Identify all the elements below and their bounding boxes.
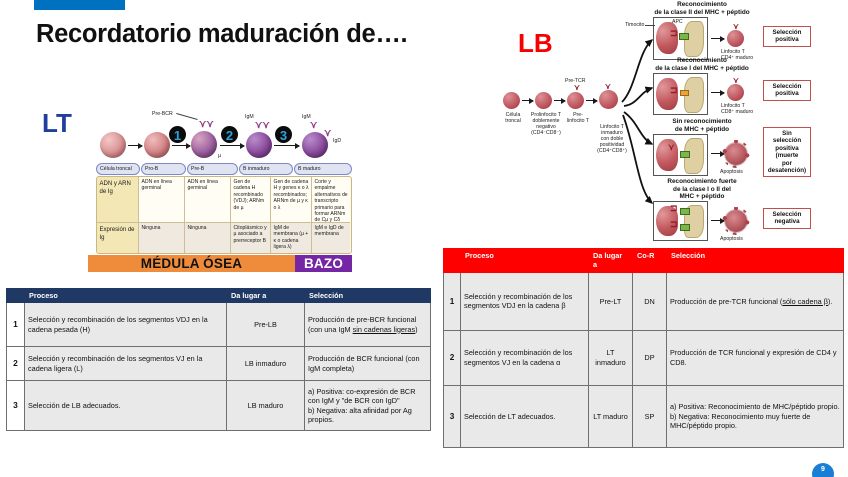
panel-2-outcome-arrow (711, 92, 724, 93)
grid-cell-r1c1: ADN en línea germinal (139, 177, 185, 223)
table-row: 2 Selección y recombinación de los segme… (7, 347, 431, 381)
t-cell-summary-table: Proceso Da lugar a Co-R Selección 1 Sele… (443, 248, 844, 448)
panel-title-class-ii: Reconocimiento de la clase II del MHC + … (617, 1, 787, 16)
cell-rt-num-2: 2 (444, 330, 461, 385)
cell-rt-num-1: 1 (444, 272, 461, 330)
cell-rt-dalugar-2: LT inmaduro (589, 330, 633, 385)
cell-lb-seleccion-2: Producción de BCR funcional (con IgM com… (305, 347, 431, 381)
cell-rt-proceso-2: Selección y recombinación de los segment… (461, 330, 589, 385)
t-cell-summary-table-wrapper: Proceso Da lugar a Co-R Selección 1 Sele… (443, 248, 843, 448)
tcr-arm-icon-4b: ⊐ (670, 221, 678, 228)
slide-canvas: Recordatorio maduración de…. LT LB 1 ⋎⋎ … (0, 0, 848, 477)
pre-b-cell-icon (191, 131, 217, 158)
organ-spleen-label: BAZO (295, 255, 352, 272)
accent-bar (34, 0, 125, 10)
thymocyte-label: Timocito (625, 22, 644, 28)
panel-title-no-recognition: Sin reconocimiento de MHC + péptido (617, 118, 787, 133)
th-rt-da-lugar-a: Da lugar a (589, 249, 633, 273)
pro-b-cell-icon (144, 132, 170, 158)
stage-pill-stem: Célula troncal (96, 163, 140, 175)
apoptotic-cell-icon-1 (725, 143, 747, 165)
th-lb-index (7, 289, 25, 303)
step-number-1: 1 (168, 125, 187, 144)
cell-rt-dalugar-3: LT maduro (589, 385, 633, 447)
panel-title-strong-recognition: Reconocimiento fuerte de la clase I o II… (617, 178, 787, 201)
cell-rt-cor-2: DP (633, 330, 667, 385)
page-title: Recordatorio maduración de…. (36, 20, 407, 49)
organ-location-bar: MÉDULA ÓSEA BAZO (88, 255, 352, 272)
b-cell-summary-table-wrapper: Proceso Da lugar a Selección 1 Selección… (6, 288, 430, 431)
table-row: 3 Selección de LT adecuados. LT maduro S… (444, 385, 844, 447)
cell-rt-dalugar-1: Pre-LT (589, 272, 633, 330)
cell-lb-seleccion-1: Producción de pre-BCR funcional (con una… (305, 303, 431, 347)
cell-lb-proceso-1: Selección y recombinación de los segment… (25, 303, 227, 347)
cell-rt-cor-3: SP (633, 385, 667, 447)
igm-receptor-icon-1: ⋎⋎ (255, 122, 270, 130)
tcr-receptor-icon: ⋎ (605, 83, 611, 91)
table-row: 1 Selección y recombinación de los segme… (444, 272, 844, 330)
cell-lb-dalugar-1: Pre-LB (227, 303, 305, 347)
section-label-lt: LT (42, 108, 72, 139)
mhc-molecule-4b (680, 224, 690, 231)
tcr-arm-icon-2: ⊐ (670, 87, 678, 94)
b-cell-stage-pills: Célula troncal Pro-B Pre-B B inmaduro B … (96, 163, 352, 175)
tcr-arm-icon-3: ⋎ (668, 144, 675, 151)
result-box-positive-1: Selección positiva (763, 26, 811, 47)
stage-pill-pre-b: Pre-B (187, 163, 238, 175)
b-cell-lineage-row: 1 ⋎⋎ Pre-BCR µ 2 ⋎⋎ IgM 3 ⋎ ⋎ IgM IgD (96, 108, 352, 164)
grid-cell-r2c3: Citoplásmico y µ asociado a prerreceptor… (231, 223, 271, 254)
apoptosis-label-2: Apoptosis (720, 236, 743, 242)
sel-text-post: ). (828, 297, 832, 306)
t-lineage-arrow-1 (522, 100, 533, 101)
pre-bcr-leader-line (176, 113, 197, 120)
stage-pill-mature: B maduro (294, 163, 352, 175)
table-row: 3 Selección de LB adecuados. LB maduro a… (7, 381, 431, 431)
cd8-tcr-icon: ⋎ (733, 77, 739, 85)
cell-lb-proceso-2: Selección y recombinación de los segment… (25, 347, 227, 381)
cell-lb-proceso-3: Selección de LB adecuados. (25, 381, 227, 431)
t-cell-selection-figure: ⋎ ⋎ Pre-TCR Célulatroncal Prolinfocito T… (505, 0, 848, 240)
cell-rt-seleccion-2: Producción de TCR funcional y expresión … (667, 330, 844, 385)
t-lineage-label-prolymphocyte: Prolinfocito Tdoblementenegativo(CD4⁻CD8… (525, 112, 567, 136)
cell-rt-num-3: 3 (444, 385, 461, 447)
tcr-arm-icon-4a: ⊐ (670, 205, 678, 212)
organ-bone-marrow-label: MÉDULA ÓSEA (88, 255, 295, 272)
page-number-badge: 9 (812, 463, 834, 477)
igd-receptor-icon: ⋎ (324, 130, 331, 138)
apoptotic-cell-icon-2 (725, 210, 747, 232)
stem-cell-icon (100, 132, 126, 158)
t-lineage-arrow-3 (586, 100, 597, 101)
igm-label-2: IgM (302, 114, 311, 120)
t-lineage-arrow-2 (554, 100, 565, 101)
result-box-positive-2: Selección positiva (763, 80, 811, 101)
pre-bcr-label: Pre-BCR (152, 111, 173, 117)
grid-cell-r2c2: Ninguna (185, 223, 231, 254)
thymocyte-cell-icon-1 (656, 22, 678, 54)
cell-rt-cor-1: DN (633, 272, 667, 330)
sel-text-post: ) (415, 325, 417, 334)
igd-label: IgD (333, 138, 341, 144)
pre-bcr-receptor-icon: ⋎⋎ (199, 121, 214, 129)
th-lb-seleccion: Selección (305, 289, 431, 303)
grid-row-label-ig-expression: Expresión de Ig (97, 223, 139, 254)
cell-lb-dalugar-3: LB maduro (227, 381, 305, 431)
mhc-molecule-3 (680, 151, 690, 158)
apoptosis-label-1: Apoptosis (720, 169, 743, 175)
step-number-2: 2 (220, 125, 239, 144)
mhc-class-ii-molecule-1 (679, 33, 689, 40)
cell-rt-seleccion-3: a) Positiva: Reconocimiento de MHC/pépti… (667, 385, 844, 447)
cell-lb-num-3: 3 (7, 381, 25, 431)
t-stem-cell-icon (503, 92, 520, 109)
lineage-arrow-2 (172, 145, 190, 146)
cd4-mature-cell-icon (727, 30, 744, 47)
th-lb-da-lugar-a: Da lugar a (227, 289, 305, 303)
th-lb-proceso: Proceso (25, 289, 227, 303)
tcr-arm-icon-1: ⊐ (670, 30, 678, 37)
grid-cell-r1c4: Gen de cadena H y genes κ o λ recombinad… (271, 177, 312, 223)
b-cell-property-grid: ADN y ARN de Ig ADN en línea germinal AD… (96, 176, 352, 254)
b-cell-summary-table: Proceso Da lugar a Selección 1 Selección… (6, 288, 431, 431)
igm-receptor-icon-2: ⋎ (310, 122, 317, 130)
grid-cell-r1c5: Corte y empalme alternativos de transcri… (312, 177, 350, 223)
sel-text-pre: Producción de pre-TCR funcional ( (670, 297, 782, 306)
cell-rt-proceso-3: Selección de LT adecuados. (461, 385, 589, 447)
cell-lb-dalugar-2: LB inmaduro (227, 347, 305, 381)
cd8-mature-cell-icon (727, 84, 744, 101)
igm-label-1: IgM (245, 114, 254, 120)
grid-cell-r2c5: IgM e IgD de membrana (312, 223, 350, 254)
grid-cell-r1c2: ADN en línea germinal (185, 177, 231, 223)
table-row: 1 Selección y recombinación de los segme… (7, 303, 431, 347)
lineage-arrow-1 (128, 145, 142, 146)
th-rt-seleccion: Selección (667, 249, 844, 273)
lineage-arrow-4 (274, 145, 299, 146)
b-cell-maturation-figure: 1 ⋎⋎ Pre-BCR µ 2 ⋎⋎ IgM 3 ⋎ ⋎ IgM IgD Cé… (96, 108, 352, 272)
t-prolymphocyte-icon (535, 92, 552, 109)
lineage-arrow-3 (220, 145, 244, 146)
immature-b-cell-icon (246, 132, 272, 158)
cell-rt-seleccion-1: Producción de pre-TCR funcional (sólo ca… (667, 272, 844, 330)
table-header-row: Proceso Da lugar a Selección (7, 289, 431, 303)
grid-cell-r1c3: Gen de cadena H recombinado (VDJ); ARNm … (231, 177, 271, 223)
step-number-3: 3 (274, 125, 293, 144)
panel-1-outcome-arrow (711, 38, 724, 39)
result-box-no-positive-selection: Sin selección positiva (muerte por desat… (763, 127, 811, 177)
cd8-mature-label: Linfocito TCD8⁺ maduro (721, 103, 761, 115)
panel-box-strong-recognition: ⊐ ⊐ (653, 201, 708, 241)
panel-box-no-recognition: ⋎ (653, 134, 708, 176)
th-rt-proceso: Proceso (461, 249, 589, 273)
mu-chain-label: µ (218, 153, 221, 159)
th-rt-index (444, 249, 461, 273)
pre-tcr-receptor-icon: ⋎ (574, 84, 580, 92)
cell-lb-num-2: 2 (7, 347, 25, 381)
mhc-molecule-4a (680, 208, 690, 215)
cd4-mature-label: Linfocito TCD4⁺ maduro (721, 49, 761, 61)
cell-lb-seleccion-3: a) Positiva: co-expresión de BCR con IgM… (305, 381, 431, 431)
t-lineage-label-immature: Linfocito Tinmadurocon doblepositividad(… (591, 124, 633, 154)
grid-cell-r2c1: Ninguna (139, 223, 185, 254)
stage-pill-immature: B inmaduro (239, 163, 293, 175)
t-lineage-label-stem: Célulatroncal (499, 112, 527, 124)
thymocyte-leader-line (645, 25, 655, 26)
th-rt-co-r: Co-R (633, 249, 667, 273)
table-header-row: Proceso Da lugar a Co-R Selección (444, 249, 844, 273)
table-row: 2 Selección y recombinación de los segme… (444, 330, 844, 385)
grid-cell-r2c4: IgM de membrana (µ + κ o cadena ligera λ… (271, 223, 312, 254)
apc-label: APC (672, 19, 683, 25)
result-box-negative-selection: Selección negativa (763, 208, 811, 229)
grid-row-label-dna-rna: ADN y ARN de Ig (97, 177, 139, 223)
t-lineage-label-pre-lymphocyte: Pre-linfocito T (564, 112, 592, 124)
stage-pill-pro-b: Pro-B (141, 163, 186, 175)
sel-text-underline: sin cadenas ligeras (353, 325, 415, 334)
pre-tcr-label: Pre-TCR (565, 78, 585, 84)
t-pre-lymphocyte-icon (567, 92, 584, 109)
cell-rt-proceso-1: Selección y recombinación de los segment… (461, 272, 589, 330)
cell-lb-num-1: 1 (7, 303, 25, 347)
cd4-tcr-icon: ⋎ (733, 23, 739, 31)
mhc-class-i-molecule-2 (680, 90, 689, 96)
panel-box-class-i: ⊐ (653, 73, 708, 115)
panel-title-class-i: Reconocimiento de la clase I del MHC + p… (617, 57, 787, 72)
sel-text-underline: sólo cadena β (782, 297, 828, 306)
